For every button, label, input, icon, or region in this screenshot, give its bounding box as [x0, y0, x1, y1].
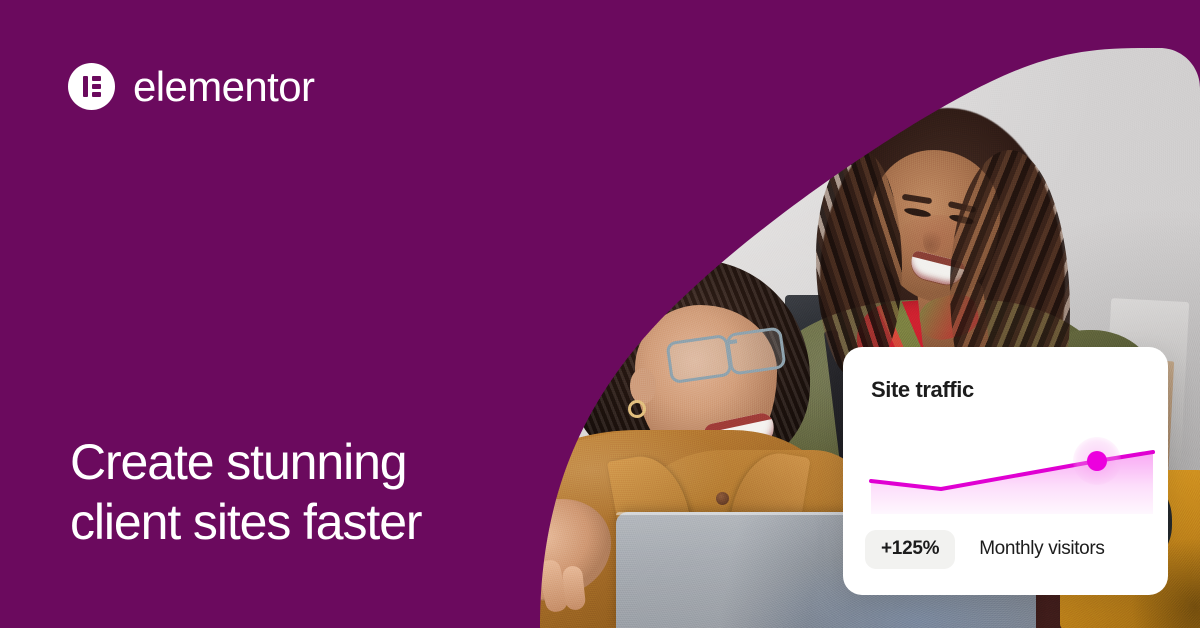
- photo-person1-ear: [630, 368, 656, 404]
- elementor-mark-line-2: [92, 84, 101, 89]
- photo-person2-nose: [923, 227, 941, 253]
- card-footer: +125% Monthly visitors: [865, 530, 1105, 569]
- photo-person1-glasses-left-lens: [665, 334, 732, 384]
- page-title: Create stunning client sites faster: [70, 432, 421, 552]
- site-traffic-card: Site traffic +125% Monthly visitors: [843, 347, 1168, 595]
- growth-badge: +125%: [865, 530, 955, 569]
- elementor-mark-line-1: [92, 76, 101, 81]
- elementor-mark-line-3: [92, 92, 101, 97]
- traffic-area-chart: [865, 419, 1157, 514]
- photo-person1-earring: [628, 400, 646, 418]
- photo-person2-curls-left: [816, 150, 902, 380]
- photo-person1-glasses-right-lens: [725, 326, 786, 375]
- photo-wall-seam: [638, 0, 640, 330]
- brand-wordmark: elementor: [133, 66, 314, 108]
- metric-label: Monthly visitors: [979, 538, 1104, 560]
- elementor-mark-bar: [83, 76, 88, 97]
- elementor-mark-icon: [68, 63, 115, 110]
- brand-logo[interactable]: elementor: [68, 63, 314, 110]
- photo-sweater-button-top: [716, 492, 729, 505]
- card-title: Site traffic: [871, 377, 974, 403]
- chart-marker-dot[interactable]: [1087, 451, 1107, 471]
- promo-banner: elementor Create stunning client sites f…: [0, 0, 1200, 628]
